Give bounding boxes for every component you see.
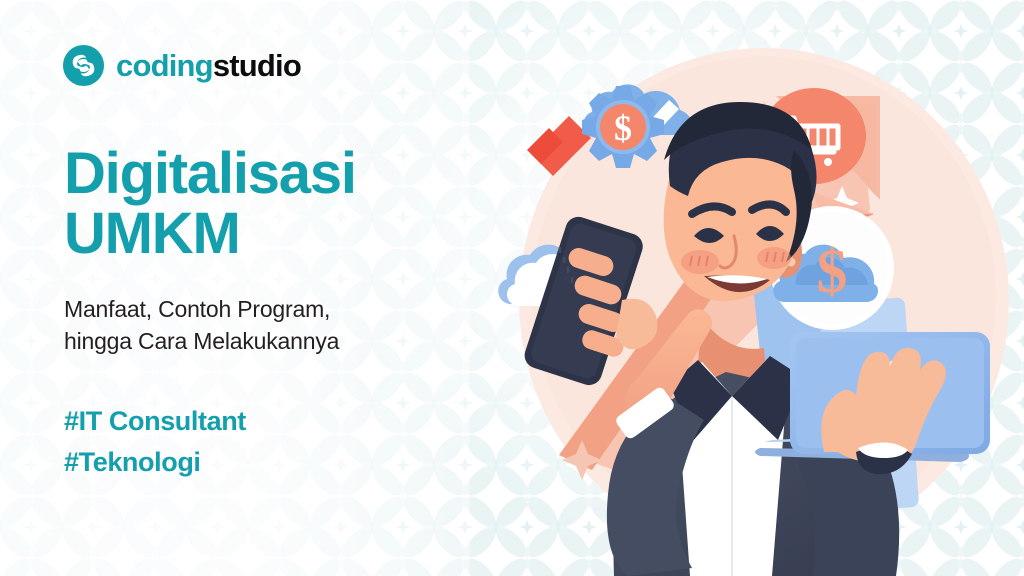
character-head [664, 102, 817, 301]
hero-illustration: $ [464, 0, 1024, 576]
headline-line-1: Digitalisasi [64, 141, 356, 206]
page-title: Digitalisasi UMKM [64, 144, 484, 265]
subtitle-line-2: hingga Cara Melakukannya [64, 325, 484, 358]
brand-wordmark: codingstudio [116, 50, 301, 81]
hero-copy: Digitalisasi UMKM Manfaat, Contoh Progra… [64, 144, 484, 483]
laptop-icon [755, 332, 990, 474]
marketing-banner: $ [0, 0, 1024, 576]
svg-text:$: $ [817, 238, 848, 306]
wordmark-studio: studio [213, 48, 301, 83]
hashtag-teknologi[interactable]: #Teknologi [64, 442, 484, 483]
codingstudio-circle-logo-icon [62, 44, 105, 87]
subtitle: Manfaat, Contoh Program, hingga Cara Mel… [64, 293, 484, 358]
brand-logo[interactable]: codingstudio [62, 44, 301, 87]
headline-line-2: UMKM [64, 204, 484, 264]
svg-text:$: $ [614, 108, 632, 148]
wordmark-coding: coding [116, 48, 213, 83]
subtitle-line-1: Manfaat, Contoh Program, [64, 296, 330, 322]
hashtag-list: #IT Consultant #Teknologi [64, 401, 484, 483]
hashtag-it-consultant[interactable]: #IT Consultant [64, 401, 484, 442]
